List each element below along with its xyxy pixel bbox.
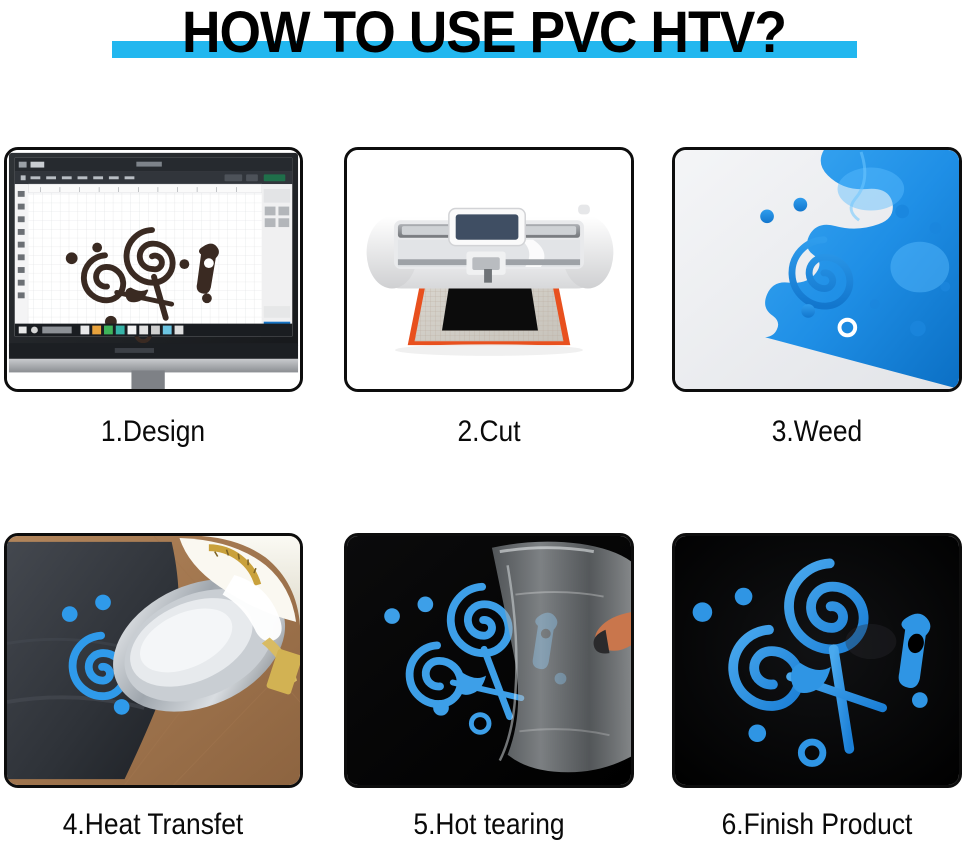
page-header: HOW TO USE PVC HTV?	[0, 0, 968, 96]
monitor-illustration	[7, 150, 300, 389]
step-caption-weed: 3.Weed	[689, 415, 944, 449]
step-caption-heat-transfer: 4.Heat Transfet	[18, 808, 287, 842]
step-image-heat-transfer	[4, 533, 303, 788]
step-image-weed	[672, 147, 962, 392]
step-image-finish-product	[672, 533, 962, 788]
iron-pressing-illustration	[7, 536, 300, 785]
step-caption-hot-tearing: 5.Hot tearing	[361, 808, 616, 842]
step-image-design	[4, 147, 303, 392]
step-caption-design: 1.Design	[18, 415, 287, 449]
step-image-hot-tearing	[344, 533, 634, 788]
step-caption-finish-product: 6.Finish Product	[689, 808, 944, 842]
weeding-illustration	[675, 150, 959, 389]
page-title: HOW TO USE PVC HTV?	[39, 2, 930, 64]
cutting-machine-illustration	[347, 150, 631, 389]
carrier-peel-illustration	[347, 536, 631, 785]
step-caption-cut: 2.Cut	[361, 415, 616, 449]
step-image-cut	[344, 147, 634, 392]
finished-design-illustration	[675, 536, 959, 785]
